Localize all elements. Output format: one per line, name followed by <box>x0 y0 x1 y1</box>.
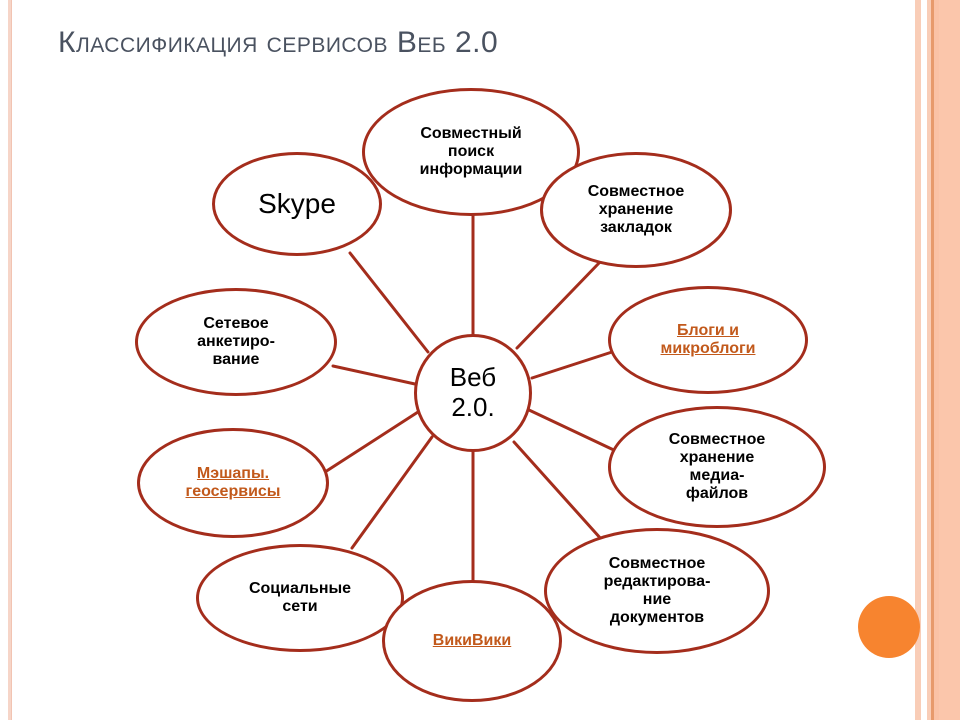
node-skype[interactable]: Skype <box>212 152 382 256</box>
connector-center-social <box>352 437 432 548</box>
node-label: Совместное редактирова- ние документов <box>604 555 711 628</box>
connector-center-docs <box>514 442 602 540</box>
connector-center-bookmarks <box>517 262 600 348</box>
connector-center-skype <box>350 253 428 352</box>
connector-center-blogs <box>532 352 612 378</box>
node-label: Skype <box>258 188 336 220</box>
node-label: Мэшапы. геосервисы <box>186 465 281 501</box>
node-label: Совместный поиск информации <box>420 125 523 180</box>
connector-center-survey <box>333 366 415 384</box>
slide-canvas: Классификация сервисов Веб 2.0 Веб 2.0. … <box>0 0 960 720</box>
node-label: Совместное хранение медиа- файлов <box>669 431 766 504</box>
node-media-storage[interactable]: Совместное хранение медиа- файлов <box>608 406 826 528</box>
node-joint-bookmarks[interactable]: Совместное хранение закладок <box>540 152 732 268</box>
node-label: Социальные сети <box>249 580 351 616</box>
node-network-survey[interactable]: Сетевое анкетиро- вание <box>135 288 337 396</box>
node-blogs-microblogs[interactable]: Блоги и микроблоги <box>608 286 808 394</box>
node-wikiwiki[interactable]: ВикиВики <box>382 580 562 702</box>
node-center-web20[interactable]: Веб 2.0. <box>414 334 532 452</box>
node-label: Блоги и микроблоги <box>661 322 756 358</box>
connector-center-mashup <box>325 412 418 472</box>
node-label: Веб 2.0. <box>450 363 496 422</box>
mind-map-diagram: Веб 2.0. Совместный поиск информации Сов… <box>0 0 960 720</box>
node-label: Сетевое анкетиро- вание <box>197 315 275 370</box>
node-mashups-geoservices[interactable]: Мэшапы. геосервисы <box>137 428 329 538</box>
node-label: Совместное хранение закладок <box>588 183 685 238</box>
node-joint-doc-editing[interactable]: Совместное редактирова- ние документов <box>544 528 770 654</box>
connector-center-media <box>529 410 618 452</box>
node-label: ВикиВики <box>433 632 511 650</box>
node-social-networks[interactable]: Социальные сети <box>196 544 404 652</box>
